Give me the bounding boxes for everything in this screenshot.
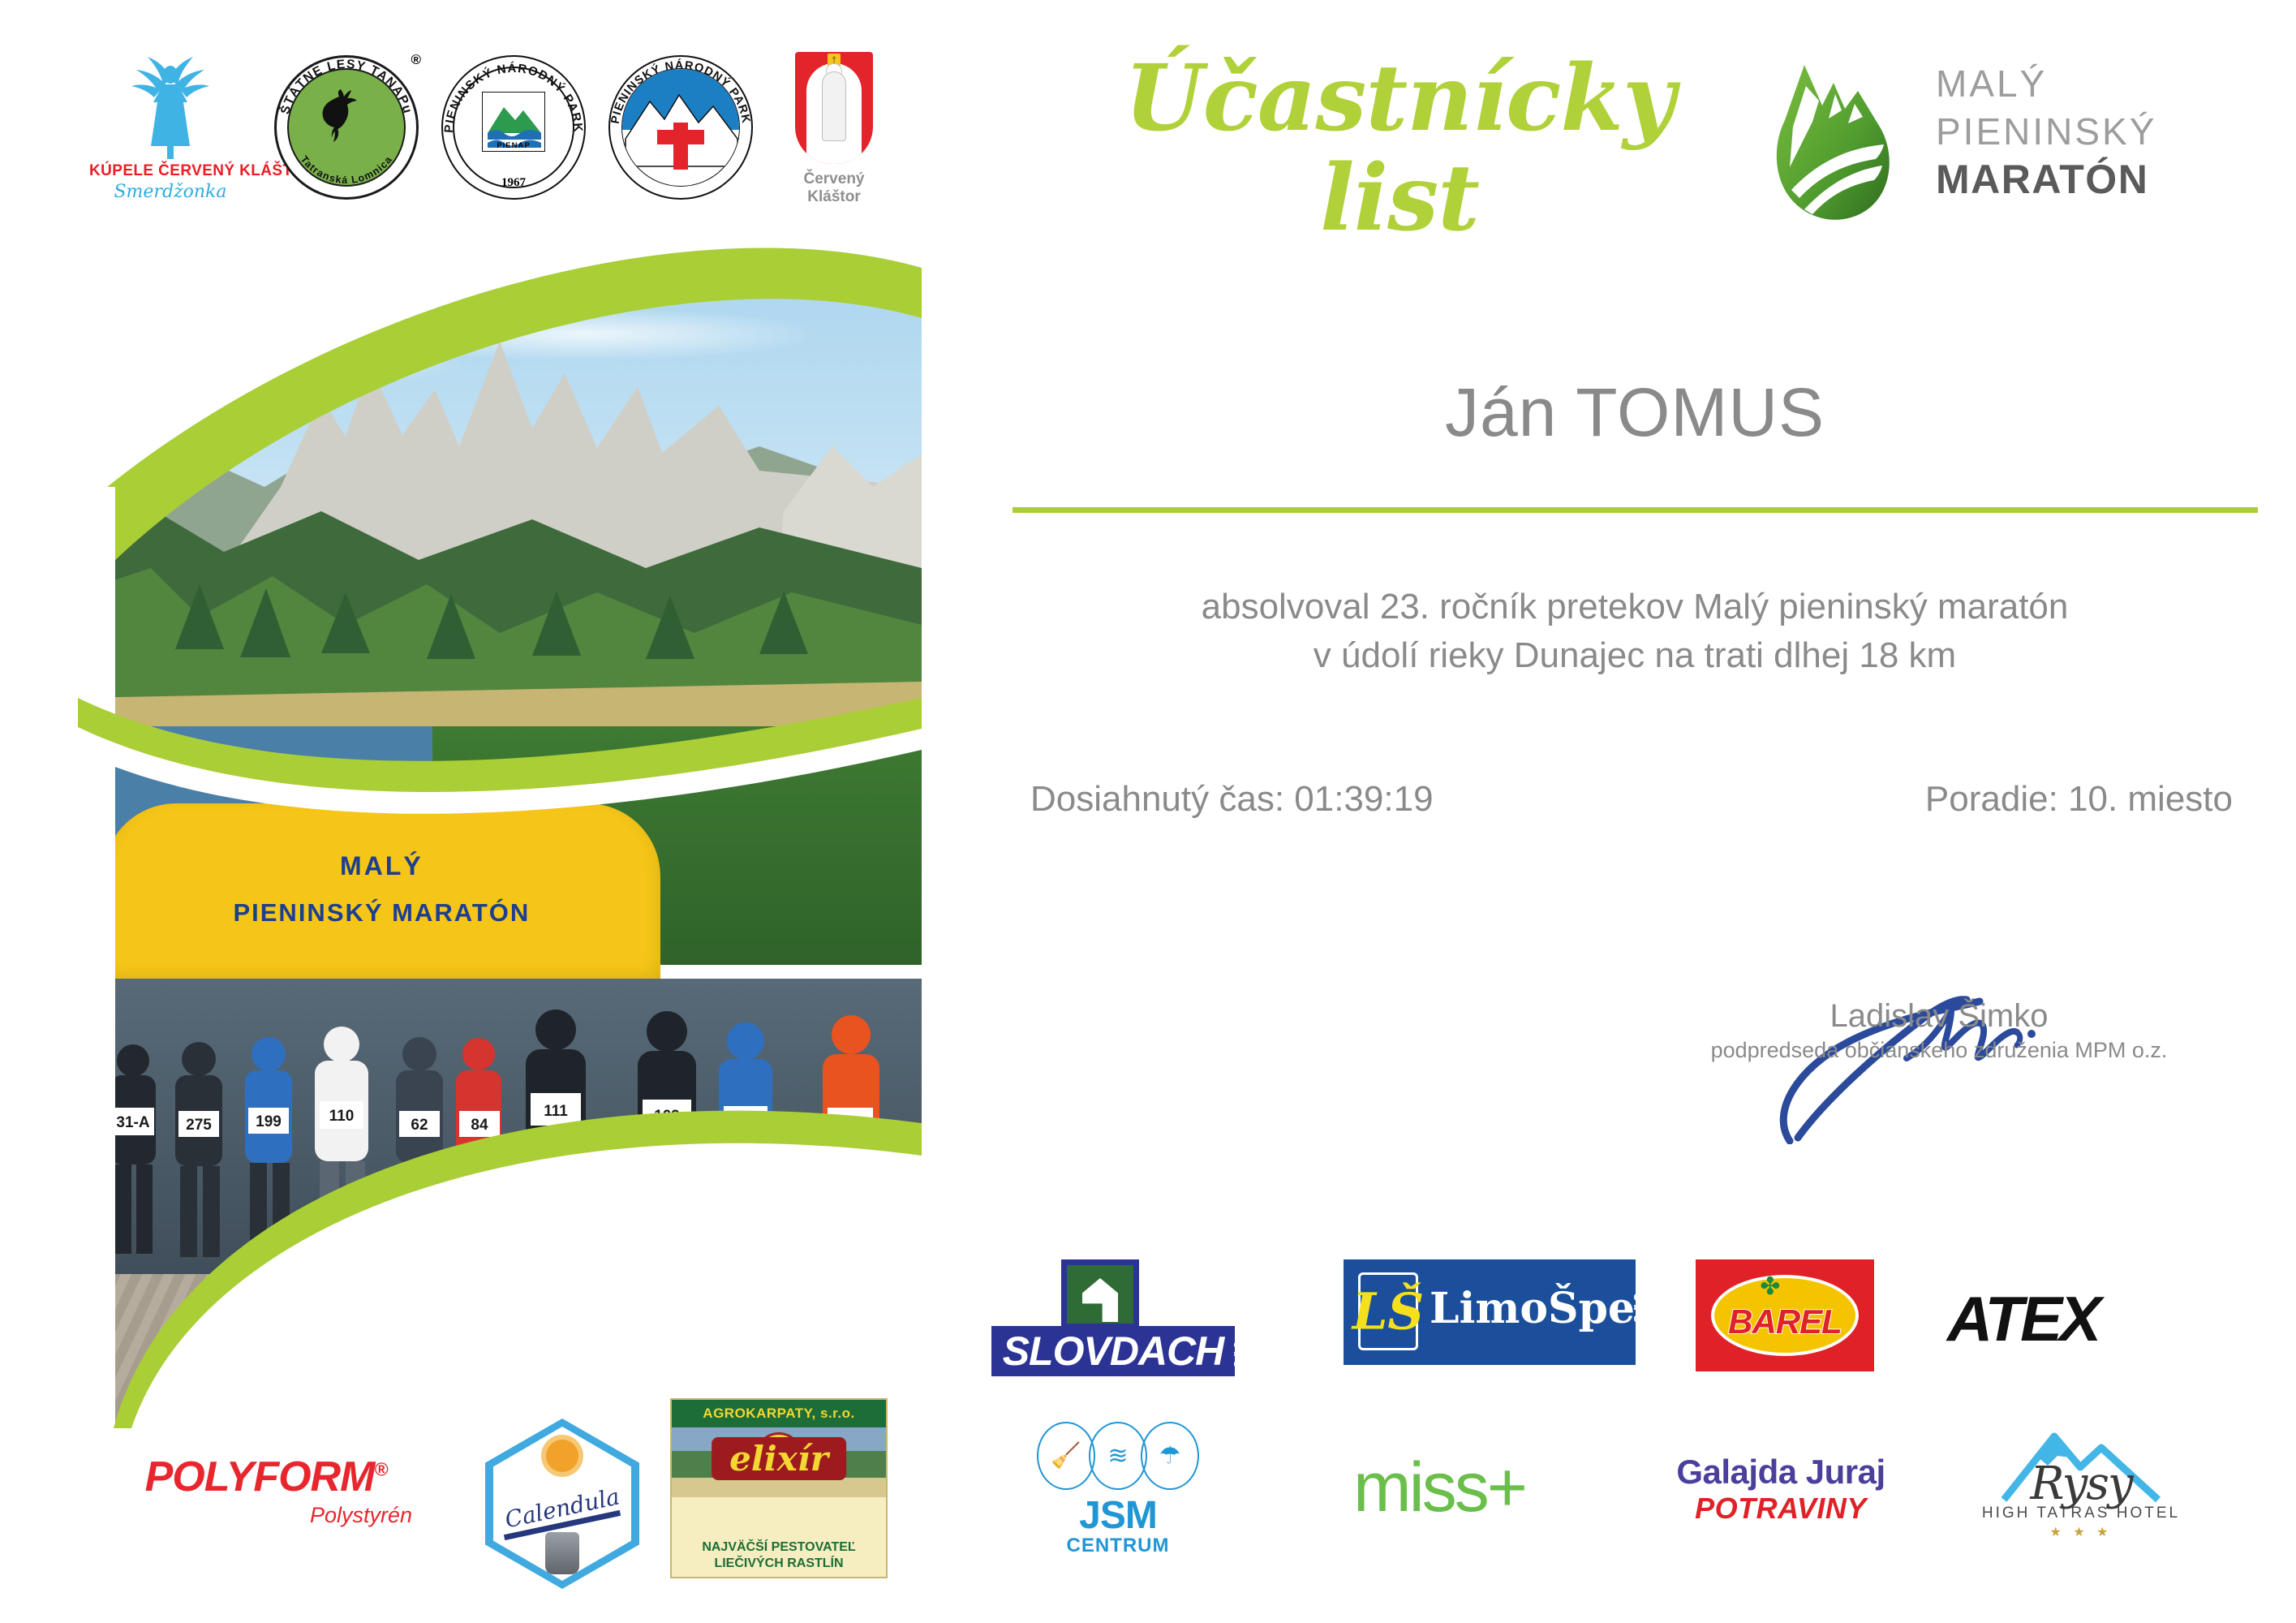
partner-logo-kupele-cerveny-klastor: KÚPELE ČERVENÝ KLÁŠTOR Smerdžonka: [89, 49, 252, 235]
recipient-name: Ján TOMUS: [1014, 373, 2255, 452]
svg-text:84: 84: [471, 1117, 488, 1134]
mountain-river-shield-icon: PIENAP: [482, 92, 545, 152]
svg-text:199: 199: [256, 1113, 282, 1130]
sponsor-barel: ✤ BAREL: [1696, 1259, 1874, 1371]
sponsor-calendula: Calendula: [485, 1419, 639, 1589]
sponsor-limospes-suffix: s.r.o.: [1629, 1289, 1646, 1323]
chamois-icon: [316, 88, 376, 149]
achievement-line-1: absolvoval 23. ročník pretekov Malý pien…: [1014, 583, 2255, 631]
achievement-line-2: v údolí rieky Dunajec na trati dlhej 18 …: [1014, 631, 2255, 680]
sponsor-atex-name: ATEX: [1947, 1282, 2166, 1356]
registered-mark: ®: [411, 52, 421, 68]
sponsor-elixir-name: elixír: [712, 1437, 846, 1480]
svg-text:Tatranská Lomnica: Tatranská Lomnica: [299, 153, 395, 186]
shower-head-icon: ☂: [1141, 1422, 1199, 1490]
partner-name-kupele: KÚPELE ČERVENÝ KLÁŠTOR: [89, 162, 252, 180]
limospes-mark: LŠ: [1352, 1282, 1424, 1341]
runner-figures: 31-A 275 199 110 62 84 111 109 230 219: [78, 726, 922, 1428]
svg-text:62: 62: [411, 1117, 428, 1134]
coat-of-arms-monk-icon: †: [795, 52, 873, 164]
achievement-text: absolvoval 23. ročník pretekov Malý pien…: [1014, 583, 2255, 680]
jsm-icon-row: 🧹 ≋ ☂: [996, 1422, 1240, 1490]
signatory-name: Ladislav Šimko: [1639, 998, 2239, 1035]
sponsor-polyform: POLYFORM® Polystyrén: [112, 1453, 420, 1528]
four-leaf-clover-icon: ✤: [1760, 1275, 1784, 1299]
result-row: Dosiahnutý čas: 01:39:19 Poradie: 10. mi…: [1014, 779, 2255, 828]
partner-subtitle-kupele: Smerdžonka: [89, 182, 252, 202]
water-fountain-statue-icon: [89, 49, 252, 162]
mortar-icon: [545, 1532, 579, 1574]
race-start-photo: MALÝ PIENINSKÝ MARATÓN: [78, 726, 922, 1428]
polyform-word: POLYFORM: [145, 1453, 375, 1500]
monk-robe: [822, 71, 846, 141]
sponsor-galajda-juraj: Galajda Juraj POTRAVINY: [1663, 1453, 1898, 1526]
sponsor-jsm-centrum: 🧹 ≋ ☂ JSM CENTRUM: [996, 1422, 1240, 1557]
house-shape: [1082, 1278, 1118, 1322]
sponsor-limospes-name: LimoŠpes: [1430, 1284, 1658, 1333]
sponsor-slovdach: SLOVDACH s.r.o.: [991, 1259, 1235, 1389]
sponsor-barel-name: BAREL: [1728, 1302, 1842, 1341]
marigold-mortar-icon: [546, 1440, 578, 1472]
brand-line-3: MARATÓN: [1936, 156, 2156, 204]
leaf-mountain-icon: [1744, 47, 1923, 226]
result-place: Poradie: 10. miesto: [1925, 779, 2233, 820]
red-cross-horizontal: [657, 130, 704, 144]
sponsor-slovdach-name: SLOVDACH: [991, 1326, 1235, 1376]
roof-house-icon: [1061, 1259, 1139, 1329]
svg-text:110: 110: [329, 1108, 355, 1125]
svg-text:219: 219: [837, 1115, 863, 1132]
shower-hose-icon: ≋: [1089, 1422, 1147, 1490]
partner-logo-horska-sluzba: PIENINSKÝ NÁRODNÝ PARK HORSKÁ SLUŽBA: [608, 55, 753, 200]
signatory-role: podpredseda občianskeho združenia MPM o.…: [1639, 1038, 2239, 1063]
sponsor-slovdach-suffix: s.r.o.: [1230, 1337, 1245, 1367]
sponsor-jsm-name: JSM: [996, 1493, 1240, 1538]
sponsor-polyform-name: POLYFORM®: [112, 1453, 420, 1501]
name-divider-rule: [1013, 507, 2258, 513]
sponsor-elixir-footer: NAJVÄČŠÍ PESTOVATEĽ LIEČIVÝCH RASTLÍN: [672, 1539, 886, 1572]
sponsor-rysy-name: Rysy: [2030, 1457, 2131, 1510]
brand-line-2: PIENINSKÝ: [1936, 108, 2156, 156]
sponsor-jsm-subtitle: CENTRUM: [996, 1535, 1240, 1557]
brand-line-1: MALÝ: [1936, 60, 2156, 108]
sponsor-polyform-subtitle: Polystyrén: [112, 1503, 412, 1528]
mountain-rescue-cross-icon: [621, 68, 740, 187]
sponsor-elixir-agrokarpaty: AGROKARPATY, s.r.o. PLAVNICA elixír NAJV…: [670, 1398, 888, 1578]
partner-logo-row: KÚPELE ČERVENÝ KLÁŠTOR Smerdžonka ŠTÁTNE…: [89, 41, 949, 227]
pienap-year: 1967: [441, 176, 586, 190]
pienap-label: PIENAP: [483, 141, 544, 150]
result-time: Dosiahnutý čas: 01:39:19: [1030, 779, 1434, 820]
sponsor-rysy-hotel: Rysy HIGH TATRAS HOTEL ★ ★ ★: [1980, 1420, 2182, 1540]
limospes-badge-icon: LŠ: [1358, 1272, 1418, 1350]
sponsor-elixir-header: AGROKARPATY, s.r.o. PLAVNICA: [672, 1400, 886, 1427]
mountain-landscape-photo: [78, 243, 922, 771]
sponsor-miss-name: miss+: [1353, 1453, 1621, 1522]
partner-name-cerveny-klastor: Červený Kláštor: [777, 170, 891, 206]
toilet-brush-icon: 🧹: [1037, 1422, 1095, 1490]
svg-text:31-A: 31-A: [116, 1114, 149, 1131]
sponsor-miss: miss+: [1353, 1453, 1621, 1522]
photo-panel: MALÝ PIENINSKÝ MARATÓN: [78, 243, 922, 1428]
registered-mark: ®: [374, 1459, 387, 1480]
svg-text:109: 109: [654, 1108, 680, 1125]
mountain-peak-icon: Rysy: [1980, 1420, 2182, 1505]
sponsor-limospes: LŠ LimoŠpes s.r.o.: [1344, 1259, 1636, 1365]
partner-logo-pieninsky-narodny-park: PIENINSKÝ NÁRODNÝ PARK PIENAP 1967: [441, 55, 586, 200]
brand-wordmark: MALÝ PIENINSKÝ MARATÓN: [1936, 60, 2156, 204]
sponsor-galajda-line-1: Galajda Juraj: [1663, 1453, 1898, 1492]
elixir-footer-line-2: LIEČIVÝCH RASTLÍN: [672, 1556, 886, 1572]
signature-block: Ladislav Šimko podpredseda občianskeho z…: [1639, 998, 2239, 1063]
svg-text:275: 275: [186, 1117, 212, 1134]
svg-text:230: 230: [733, 1113, 759, 1130]
partner-logo-statne-lesy-tanapu: ŠTÁTNE LESY TANAPu Tatranská Lomnica ®: [274, 55, 419, 200]
sponsor-atex: ATEX: [1947, 1282, 2166, 1356]
sponsor-rysy-stars: ★ ★ ★: [1980, 1524, 2182, 1540]
elixir-footer-line-1: NAJVÄČŠÍ PESTOVATEĽ: [672, 1539, 886, 1556]
page-title: Účastnícky list: [1043, 49, 1756, 248]
brand-logo-maly-pieninsky-maraton: MALÝ PIENINSKÝ MARATÓN: [1744, 41, 2280, 227]
partner-logo-cerveny-klastor-erb: † Červený Kláštor: [777, 52, 891, 230]
svg-text:111: 111: [544, 1103, 568, 1120]
sponsor-galajda-line-2: POTRAVINY: [1663, 1492, 1898, 1526]
